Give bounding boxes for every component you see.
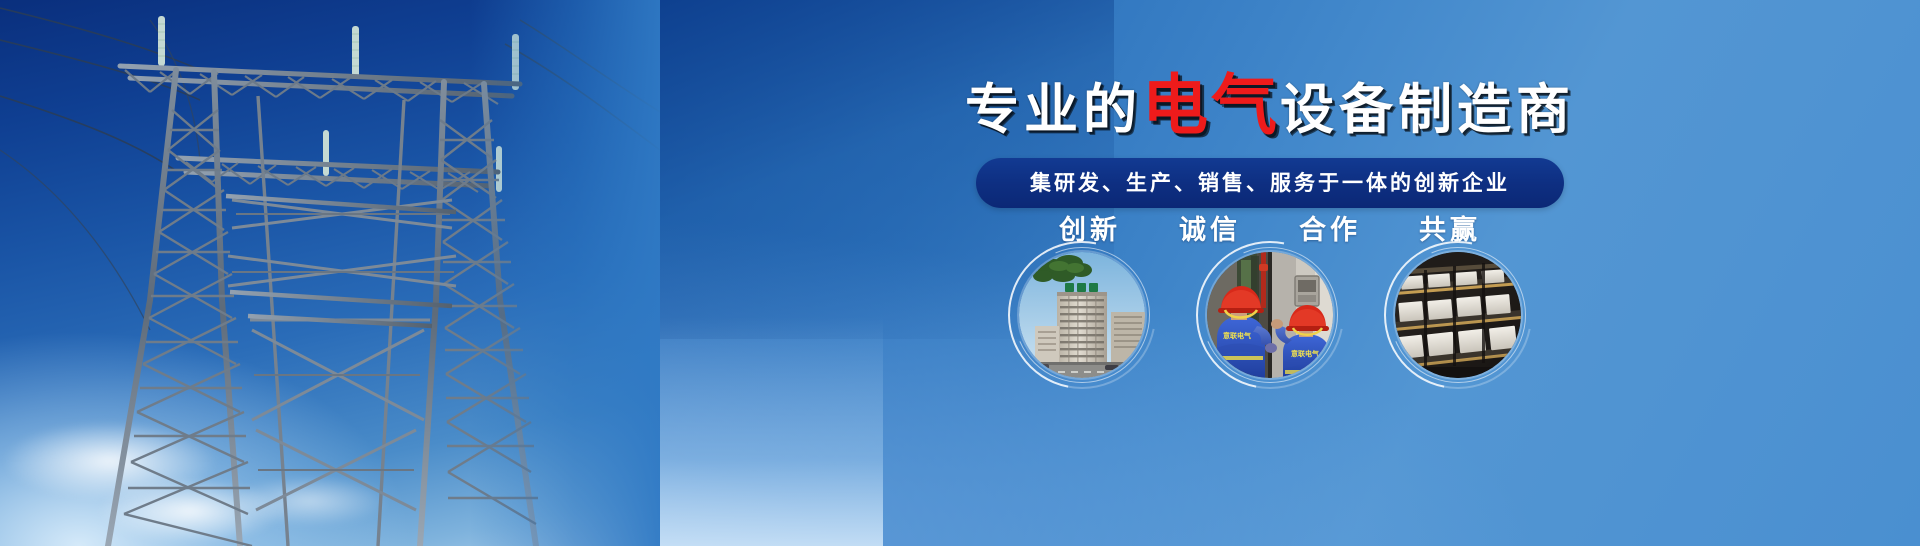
headline-part-2: 设备制造商 [1280,80,1575,140]
circular-photo-slot: 意联电气 [1207,252,1333,378]
circular-photo-gallery: 公司办公大楼 [620,252,1920,378]
banner-content: 专业的电气设备制造商 集研发、生产、销售、服务于一体的创新企业 创新 诚信 合作… [620,0,1920,546]
keyword-item-cooperation: 合作 [1299,208,1361,247]
workers-installation-photo[interactable]: 意联电气 [1207,252,1333,378]
circular-photo-slot: 公司办公大楼 [1019,252,1145,378]
svg-text:意联电气: 意联电气 [1223,331,1251,340]
subtitle-pill: 集研发、生产、销售、服务于一体的创新企业 [976,158,1564,208]
headline-part-1: 专业的 [965,80,1142,140]
transmission-tower-photo: 高压输电铁塔 [0,0,660,546]
subtitle-pill-wrapper: 集研发、生产、销售、服务于一体的创新企业 [620,158,1920,208]
hero-banner: 高压输电铁塔 专业的电气设备制造商 集研发、生产、销售、服务于一体的创新企业 创… [0,0,1920,546]
circular-photo-slot: 产品展示厅 [1395,252,1521,378]
svg-text:意联电气: 意联电气 [1291,349,1319,358]
banner-headline: 专业的电气设备制造商 [620,72,1920,138]
office-building-photo[interactable] [1019,252,1145,378]
headline-highlight: 电气 [1142,68,1280,142]
keyword-item-integrity: 诚信 [1179,208,1241,247]
product-showroom-photo[interactable] [1395,252,1521,378]
